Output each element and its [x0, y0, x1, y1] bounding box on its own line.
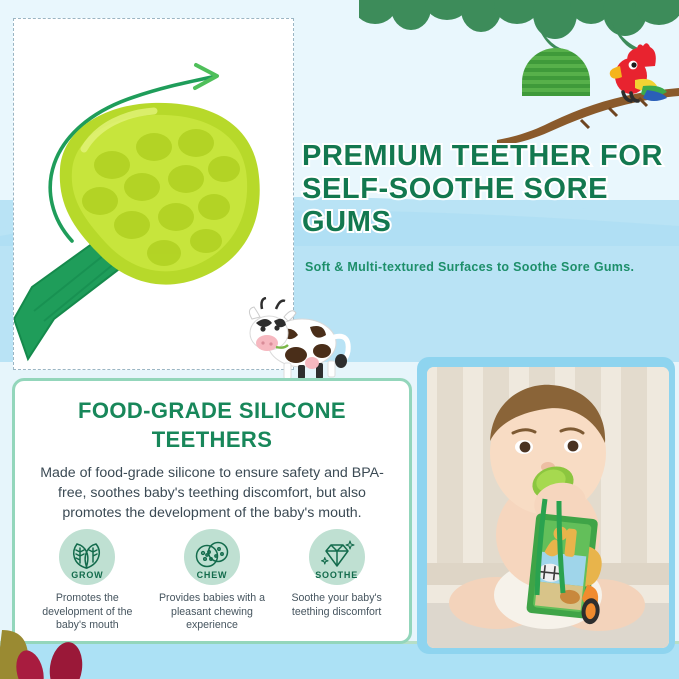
grow-feature-text: Promotes the development of the baby's m… — [29, 592, 145, 633]
hero-subtitle: Soft & Multi-textured Surfaces to Soothe… — [305, 258, 671, 276]
chew-feature-text: Provides babies with a pleasant chewing … — [154, 592, 270, 633]
chew-badge-label: CHEW — [184, 570, 240, 580]
soothe-badge-label: SOOTHE — [309, 570, 365, 580]
info-body-text: Made of food-grade silicone to ensure sa… — [31, 463, 393, 523]
product-image-panel — [13, 18, 294, 370]
baby-chewing-teether-illustration — [427, 367, 669, 648]
soothe-badge: SOOTHE — [309, 529, 365, 585]
diamond-icon — [317, 540, 357, 574]
headline-line-1: PREMIUM TEETHER FOR — [302, 140, 674, 173]
chew-badge: CHEW — [184, 529, 240, 585]
product-marketing-image: PREMIUM TEETHER FOR SELF-SOOTHE SORE GUM… — [0, 0, 679, 679]
grow-badge: GROW — [59, 529, 115, 585]
baby-photo-frame — [417, 357, 675, 654]
red-parrot-icon — [573, 40, 668, 110]
grow-badge-label: GROW — [59, 570, 115, 580]
cookies-icon — [192, 540, 232, 574]
headline-line-2: SELF-SOOTHE SORE — [302, 173, 674, 206]
cartoon-cow-icon — [236, 297, 366, 382]
info-title-line-2: TEETHERS — [15, 426, 409, 453]
info-card: FOOD-GRADE SILICONE TEETHERS Made of foo… — [12, 378, 412, 644]
info-title-line-1: FOOD-GRADE SILICONE — [15, 397, 409, 424]
baby-photo — [427, 367, 669, 648]
headline-line-3: GUMS — [302, 206, 674, 239]
feature-grow: GROW Promotes the development of the bab… — [29, 529, 145, 633]
feature-chew: CHEW Provides babies with a pleasant che… — [154, 529, 270, 633]
feature-soothe: SOOTHE Soothe your baby's teething disco… — [279, 529, 395, 633]
leaves-icon — [67, 540, 107, 574]
hero-headline: PREMIUM TEETHER FOR SELF-SOOTHE SORE GUM… — [302, 140, 674, 239]
feature-list: GROW Promotes the development of the bab… — [15, 529, 409, 633]
red-petals-icon — [0, 630, 146, 679]
soothe-feature-text: Soothe your baby's teething discomfort — [279, 592, 395, 619]
